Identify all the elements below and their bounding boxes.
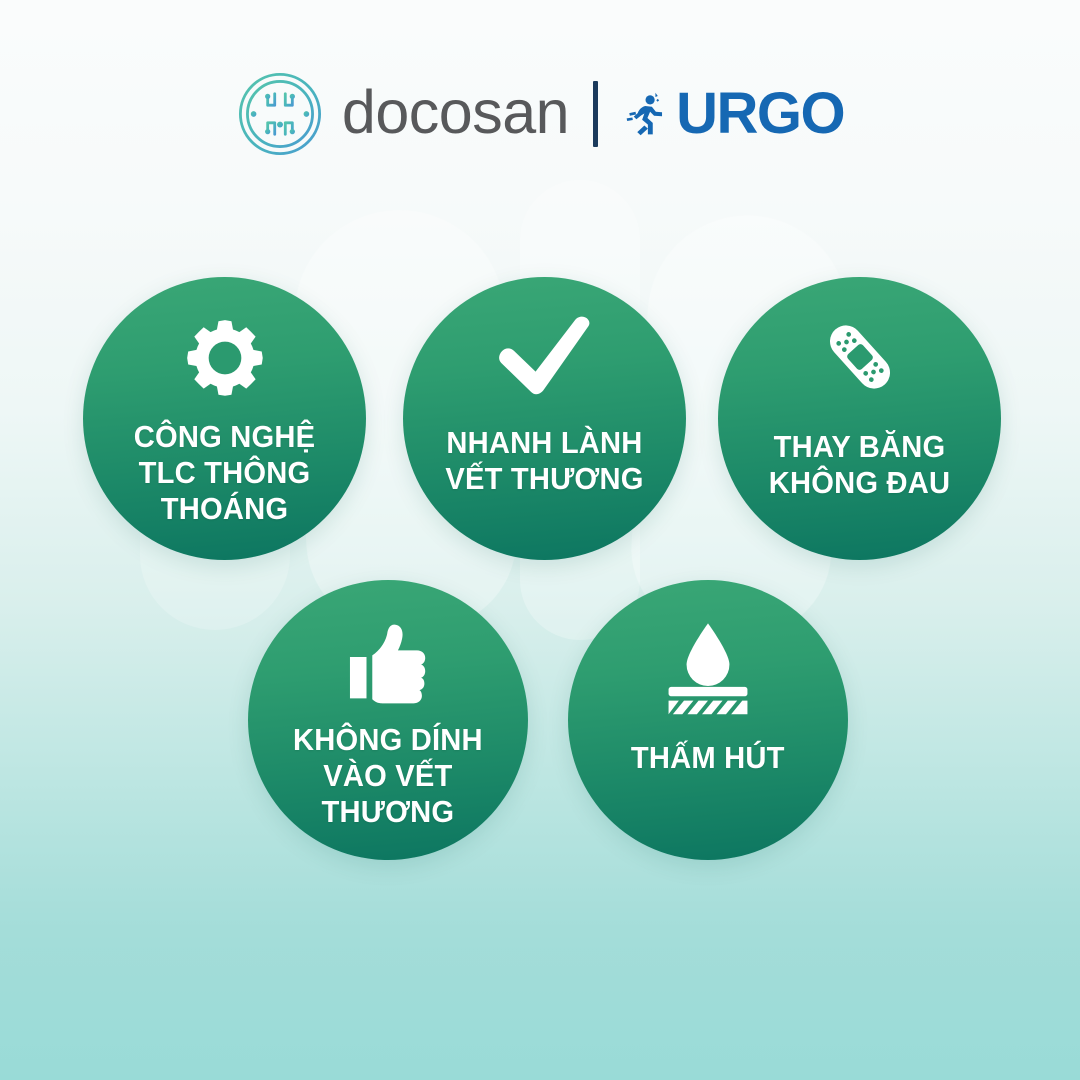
brand-logo-bar: docosan URGO — [0, 58, 1080, 170]
feature-label: NHANH LÀNH VẾT THƯƠNG — [445, 425, 643, 497]
feature-circle-thay-bang-khong-dau[interactable]: THAY BĂNG KHÔNG ĐAU — [718, 277, 1001, 560]
docosan-circular-circuit-emblem-icon — [236, 70, 324, 158]
feature-label: KHÔNG DÍNH VÀO VẾT THƯƠNG — [293, 722, 483, 830]
feature-icon-slot — [83, 315, 366, 401]
thumbs-up-icon — [345, 620, 431, 704]
feature-icon-slot — [568, 620, 848, 716]
absorbency-droplet-icon — [652, 620, 764, 716]
gear-icon — [182, 315, 268, 401]
check-icon — [493, 315, 597, 399]
docosan-logo[interactable]: docosan — [236, 70, 569, 158]
brand-divider — [593, 81, 598, 147]
promo-poster: docosan URGO — [0, 0, 1080, 1080]
feature-icon-slot — [403, 315, 686, 399]
feature-circle-nhanh-lanh[interactable]: NHANH LÀNH VẾT THƯƠNG — [403, 277, 686, 560]
feature-label: THAY BĂNG KHÔNG ĐAU — [769, 429, 950, 501]
feature-icon-slot — [718, 315, 1001, 399]
feature-label: THẤM HÚT — [631, 740, 785, 776]
feature-circle-cong-nghe-tlc[interactable]: CÔNG NGHỆ TLC THÔNG THOÁNG — [83, 277, 366, 560]
urgo-running-figure-icon — [624, 89, 670, 139]
urgo-wordmark: URGO — [676, 85, 844, 143]
feature-circle-khong-dinh[interactable]: KHÔNG DÍNH VÀO VẾT THƯƠNG — [248, 580, 528, 860]
bandage-icon — [818, 315, 902, 399]
feature-icon-slot — [248, 620, 528, 704]
feature-circle-tham-hut[interactable]: THẤM HÚT — [568, 580, 848, 860]
urgo-logo[interactable]: URGO — [624, 85, 844, 143]
docosan-wordmark: docosan — [342, 82, 569, 147]
feature-label: CÔNG NGHỆ TLC THÔNG THOÁNG — [134, 419, 315, 527]
